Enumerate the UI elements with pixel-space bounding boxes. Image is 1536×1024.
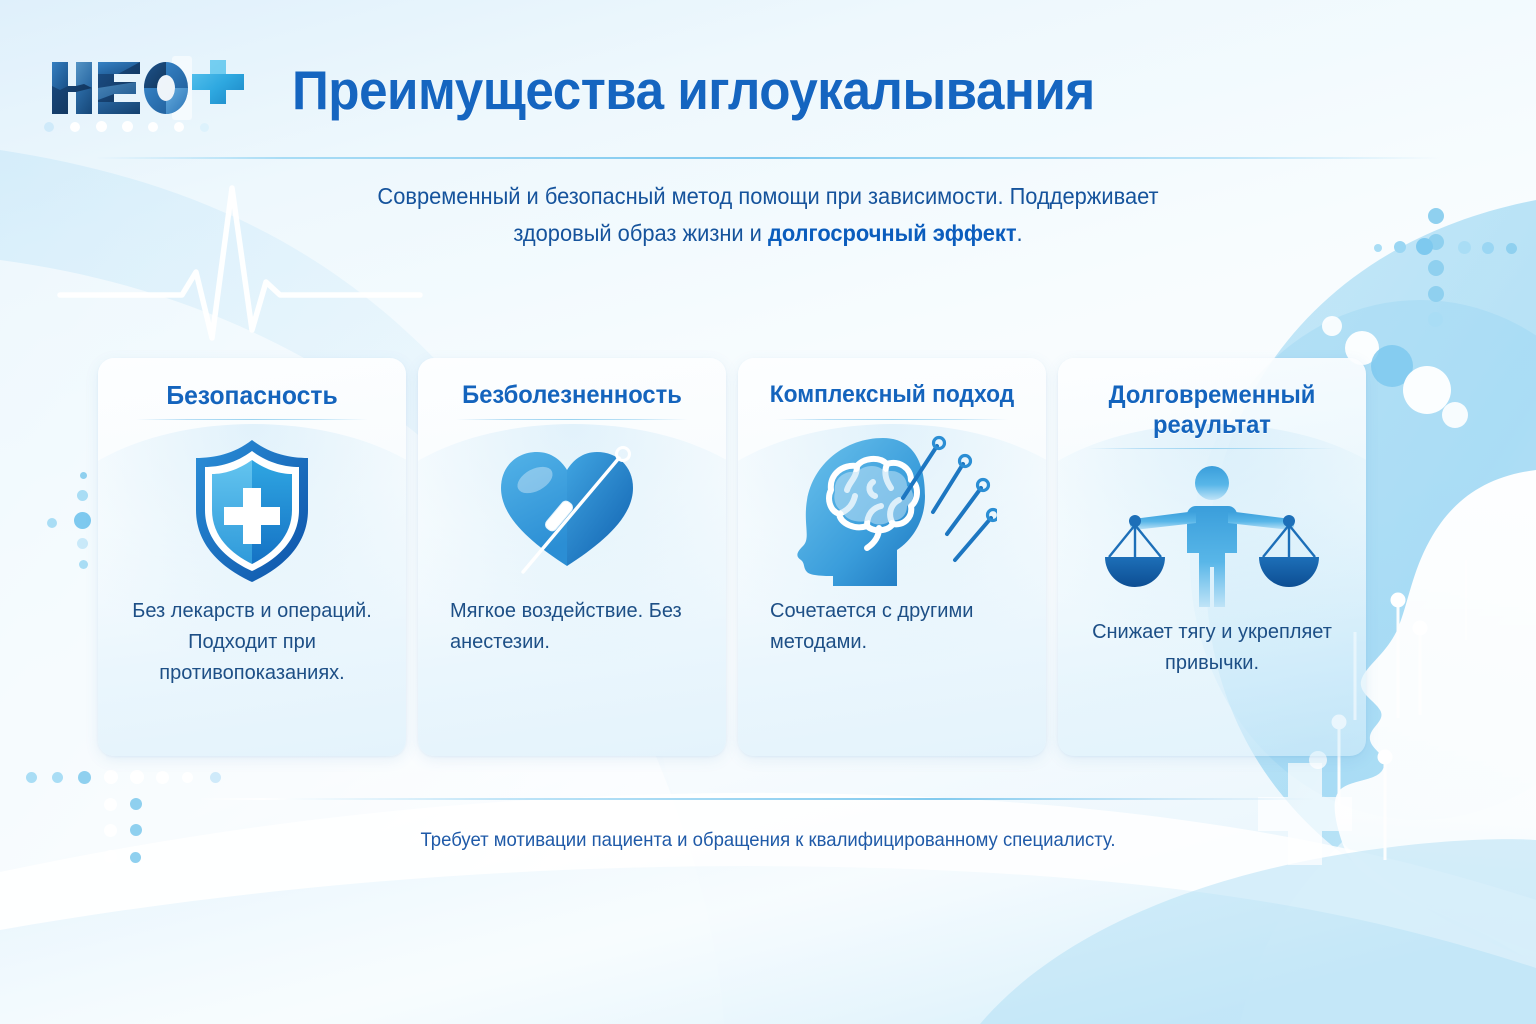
card-title: Комплексный подход [759, 380, 1025, 410]
card-header: Комплексный подход [738, 358, 1046, 420]
card-icon-wrap [738, 426, 1046, 596]
subtitle-line-2-prefix: здоровый образ жизни и [513, 220, 768, 246]
card-header: Безопасность [98, 358, 406, 420]
brand-logo[interactable] [48, 52, 248, 124]
card-description: Мягкое воздействие. Без анестезии. [418, 596, 726, 658]
dotted-cross-pattern-right [1374, 208, 1514, 338]
card-icon-wrap [1058, 455, 1366, 617]
subtitle-line-1: Современный и безопасный метод помощи пр… [377, 183, 1158, 209]
card-title: Безопасность [119, 380, 385, 410]
header-divider [96, 157, 1440, 159]
card-header: Долговременный реаультат [1058, 358, 1366, 449]
card-title-divider [136, 419, 368, 420]
benefit-card-row: Безопасность [98, 358, 1418, 758]
page-title: Преимущества иглоукалывания [292, 58, 1095, 122]
shield-cross-icon [186, 436, 318, 586]
benefit-card-safety[interactable]: Безопасность [98, 358, 406, 756]
card-header: Безболезненность [418, 358, 726, 420]
footer-divider [196, 798, 1316, 800]
benefit-card-long-term-result[interactable]: Долговременный реаультат [1058, 358, 1366, 756]
footer-note: Требует мотивации пациента и обращения к… [293, 826, 1243, 854]
card-title: Безболезненность [439, 380, 705, 410]
person-scales-icon [1097, 461, 1327, 611]
card-icon-wrap [418, 426, 726, 596]
card-title-divider [456, 419, 688, 420]
neo-plus-logo-icon [48, 52, 248, 124]
dotted-cross-pattern-bottom-left [20, 762, 180, 912]
card-description: Без лекарств и операций. Подходит при пр… [98, 596, 406, 689]
subtitle-line-2-suffix: . [1017, 220, 1023, 246]
card-title-divider [776, 419, 1008, 420]
plus-symbol-decor [1258, 763, 1352, 865]
heart-needle-icon [487, 436, 657, 586]
benefit-card-painless[interactable]: Безболезненность [418, 358, 726, 756]
card-title-divider [1088, 448, 1336, 449]
header: Преимущества иглоукалывания [0, 0, 1536, 152]
infographic-canvas: Преимущества иглоукалывания Современный … [0, 0, 1536, 1024]
subtitle-highlight: долгосрочный эффект [768, 220, 1017, 246]
card-description: Сочетается с другими методами. [738, 596, 1046, 658]
card-icon-wrap [98, 426, 406, 596]
head-brain-needles-icon [787, 434, 997, 589]
card-description: Снижает тягу и укрепляет привычки. [1058, 617, 1366, 679]
card-title: Долговременный реаультат [1079, 380, 1345, 440]
subtitle: Современный и безопасный метод помощи пр… [293, 178, 1243, 252]
benefit-card-complex-approach[interactable]: Комплексный подход [738, 358, 1046, 756]
